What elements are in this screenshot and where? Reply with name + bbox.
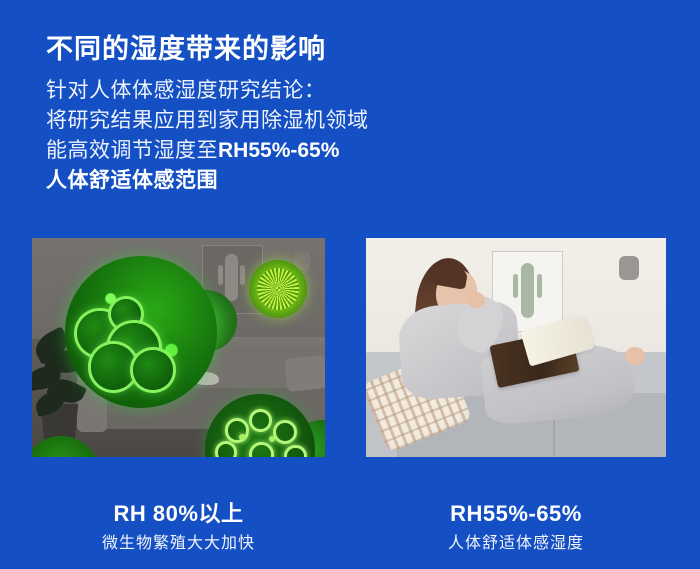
dark-sofa-cushion	[285, 355, 325, 392]
intro-line-2: 将研究结果应用到家用除湿机领域	[46, 106, 369, 136]
poster-root: 不同的湿度带来的影响 针对人体体感湿度研究结论： 将研究结果应用到家用除湿机领域…	[0, 0, 700, 569]
microbe-sphere-large	[65, 256, 217, 408]
cactus-icon	[225, 254, 238, 302]
dark-room-scene	[32, 238, 325, 457]
photo-comfort-room	[366, 238, 666, 457]
caption-left-main: RH 80%以上	[32, 500, 325, 528]
page-title: 不同的湿度带来的影响	[46, 32, 326, 66]
microbe-dot	[239, 434, 246, 441]
microbe-ring	[273, 420, 297, 444]
intro-line-3-highlight: RH55%-65%	[218, 139, 339, 162]
intro-line-4: 人体舒适体感范围	[46, 166, 369, 196]
caption-right-main: RH55%-65%	[366, 500, 666, 528]
caption-left: RH 80%以上 微生物繁殖大大加快	[32, 500, 325, 557]
microbe-ring	[225, 418, 250, 443]
caption-left-sub: 微生物繁殖大大加快	[32, 531, 325, 557]
caption-right-sub: 人体舒适体感湿度	[366, 531, 666, 557]
intro-line-1: 针对人体体感湿度研究结论：	[46, 76, 369, 106]
intro-text-block: 针对人体体感湿度研究结论： 将研究结果应用到家用除湿机领域 能高效调节湿度至RH…	[46, 76, 369, 196]
microbe-ring	[249, 409, 272, 432]
caption-right: RH55%-65% 人体舒适体感湿度	[366, 500, 666, 557]
woman-reading	[390, 258, 648, 438]
microbe-dot	[269, 436, 276, 443]
intro-line-3: 能高效调节湿度至RH55%-65%	[46, 136, 369, 166]
microbe-spikes	[257, 268, 299, 310]
microbe-ring	[249, 442, 274, 457]
intro-line-3-prefix: 能高效调节湿度至	[46, 139, 218, 162]
microbe-ring	[215, 441, 238, 457]
microbe-sphere-small	[249, 260, 307, 318]
foot	[625, 347, 646, 365]
microbe-cell	[91, 344, 137, 390]
light-room-scene	[366, 238, 666, 457]
microbe-cell	[133, 350, 173, 390]
microbe-ring	[284, 445, 307, 457]
photo-humid-room	[32, 238, 325, 457]
